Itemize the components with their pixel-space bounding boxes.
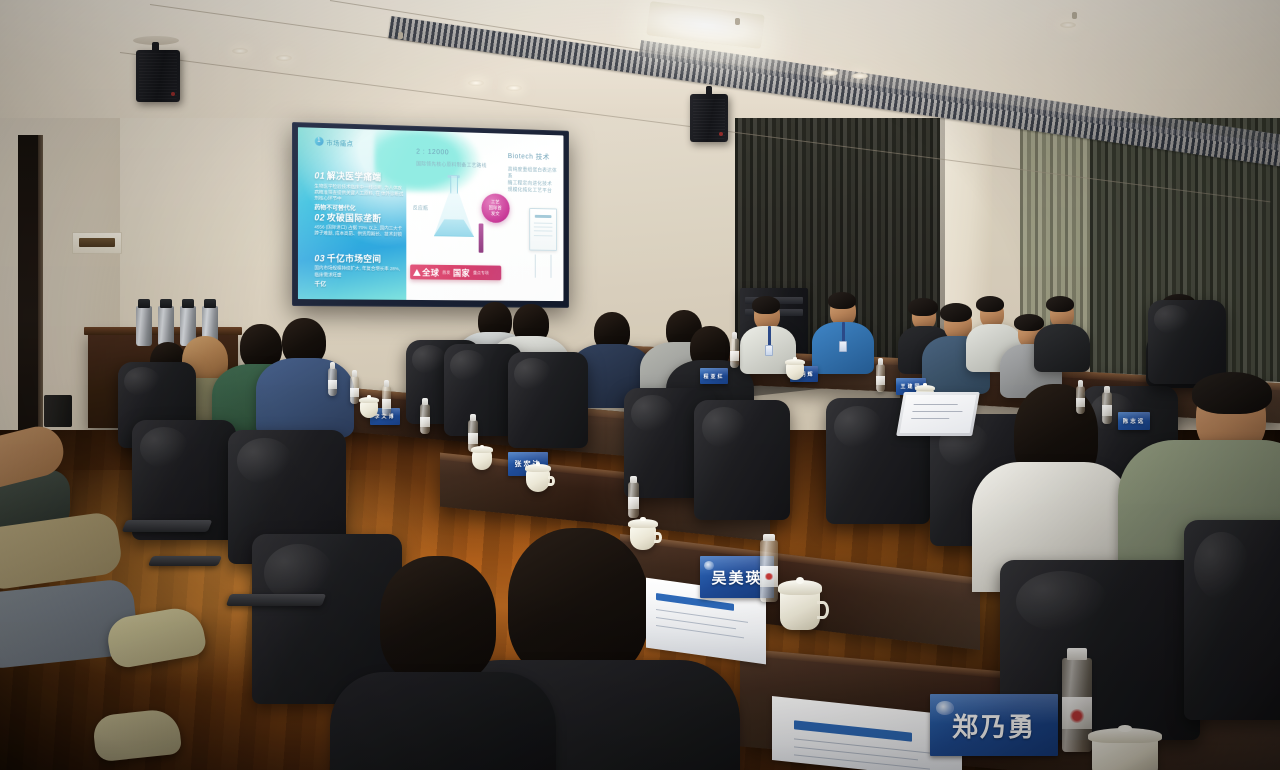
hair	[940, 303, 972, 322]
chair-highlight	[702, 407, 746, 448]
cup-knob	[480, 445, 484, 448]
display-screen-surface: 1 市场痛点 01解决医学痛端 生物医学检验技术临床中一线诊断, 为人体疾病精准…	[298, 127, 563, 301]
banner-global-sub: 首发	[442, 270, 450, 276]
nameplate-text: 吴美瑛	[711, 567, 762, 588]
wall-control-panel[interactable]	[72, 232, 122, 254]
cup-knob	[796, 577, 804, 584]
sprinkler-head-1	[398, 32, 403, 39]
tea-cup-7	[780, 588, 820, 630]
chair-foreground-far-right[interactable]	[1184, 520, 1280, 720]
slide-item-03: 03千亿市场空间 国内市场规模持续扩大, 年复合增长率 28%, 临床需求旺盛 …	[314, 251, 403, 289]
bottle-cap	[763, 534, 775, 541]
cup-handle	[654, 532, 662, 543]
slide-item-01-heading: 01解决医学痛端	[314, 169, 403, 184]
slide-header: 1 市场痛点	[314, 136, 353, 147]
ceiling-speaker-left	[136, 50, 180, 102]
downlight-5	[822, 70, 838, 76]
downlight-6	[852, 73, 868, 79]
panel-display	[79, 238, 115, 247]
laptop-line-2	[912, 411, 962, 412]
chair-highlight	[1154, 305, 1190, 334]
chair-highlight	[140, 427, 188, 468]
slide-item-01-title: 解决医学痛端	[327, 171, 381, 182]
sneaker-2	[92, 708, 182, 763]
chair-right-2[interactable]	[1148, 300, 1226, 384]
conference-room-scene: 1 市场痛点 01解决医学痛端 生物医学检验技术临床中一线诊断, 为人体疾病精准…	[0, 0, 1280, 770]
downlight-4	[506, 85, 522, 91]
slide-header-number: 1	[314, 137, 323, 146]
warning-triangle-icon	[413, 269, 421, 276]
torso	[256, 358, 354, 438]
laptop-line-3	[911, 418, 949, 419]
certificate-line-1	[534, 222, 553, 223]
tea-cup-8	[1092, 736, 1158, 770]
water-bottle-6	[350, 376, 359, 404]
bottle-cap	[1067, 648, 1086, 660]
bottle-cap	[470, 414, 476, 421]
nameplate-text: 郑乃勇	[952, 707, 1036, 744]
badge-card	[839, 341, 847, 352]
certificate-line-4	[534, 235, 553, 236]
downlight-7	[1060, 22, 1076, 28]
bottle-logo	[1069, 709, 1086, 723]
nameplate-text: 程亚红	[703, 373, 724, 380]
chair-highlight	[237, 438, 291, 484]
bottle-cap	[1078, 380, 1084, 387]
waste-bin	[44, 395, 72, 427]
banner-national-label: 国家	[453, 267, 470, 279]
flask-caption: 反应瓶	[413, 205, 428, 212]
chair-back-4[interactable]	[508, 352, 588, 448]
handout-accent-bar	[794, 720, 912, 741]
door-recess	[18, 135, 40, 465]
hair	[752, 296, 780, 314]
bottle-cap	[630, 476, 637, 483]
chair-highlight	[631, 395, 673, 432]
thermos-flask-1	[136, 306, 152, 346]
water-bottle-2	[876, 364, 885, 392]
bottle-label	[628, 497, 639, 509]
water-bottle-4	[1076, 386, 1085, 414]
chair-base-left-1	[122, 520, 213, 532]
thermos-cap	[182, 299, 194, 308]
slide-item-02: 02攻破国际垄断 4556 (国际进口) 占据 70% 以上, 国内三大卡脖子难…	[314, 210, 403, 238]
chair-base-left-2	[148, 556, 222, 566]
speaker-led	[719, 132, 723, 136]
hair	[976, 296, 1004, 312]
water-bottle-7	[382, 386, 391, 416]
thermos-cap	[138, 299, 150, 308]
certificate-stand	[534, 254, 551, 277]
nameplate-zheng-naiyong: 郑乃勇	[930, 694, 1058, 756]
speaker-led	[171, 92, 175, 96]
tea-cup-1	[786, 362, 804, 380]
slide-item-02-title: 攻破国际垄断	[327, 212, 381, 223]
bottle-cap	[330, 362, 336, 369]
thermos-cap	[204, 299, 216, 308]
thermos-flask-2	[158, 306, 174, 346]
slide-item-03-highlight: 千亿	[314, 279, 403, 289]
hair	[1046, 296, 1074, 312]
tea-cup-5	[526, 468, 550, 492]
downlight-3	[468, 80, 484, 86]
head	[508, 528, 648, 680]
chair-highlight	[450, 350, 486, 381]
chair-highlight	[834, 406, 882, 449]
slide-item-03-number: 03	[314, 253, 324, 263]
flask-neck	[450, 176, 457, 194]
thermos-cap	[160, 299, 172, 308]
slide-item-03-heading: 03千亿市场空间	[314, 251, 403, 265]
certificate-line-3	[534, 231, 553, 232]
badge-card	[765, 345, 773, 356]
door-frame-edge	[38, 135, 43, 467]
slide-item-03-desc: 国内市场规模持续扩大, 年复合增长率 28%, 临床需求旺盛	[314, 266, 403, 279]
chair-highlight	[1016, 571, 1108, 632]
torso	[330, 672, 556, 770]
bottle-label	[1102, 405, 1112, 416]
bottle-cap	[422, 398, 428, 405]
bottle-cap	[878, 358, 884, 365]
bottle-label	[468, 433, 478, 444]
bottle-label	[420, 417, 430, 427]
hair	[1192, 372, 1272, 414]
lanyard	[768, 326, 771, 346]
downlight-1	[232, 48, 248, 54]
hair	[1014, 314, 1044, 331]
bottle-label	[1076, 398, 1085, 408]
certificate-line-2	[534, 227, 553, 228]
badge-connector-bar	[479, 223, 484, 252]
slide-aside-title: Biotech 技术	[508, 152, 550, 163]
bottle-label	[328, 380, 337, 390]
chair-highlight	[124, 367, 160, 396]
water-bottle-1	[730, 338, 739, 368]
slide-item-01-desc: 生物医学检验技术临床中一线诊断, 为人体疾病精准筛查提供关键人工原料, 在 体外…	[314, 183, 403, 203]
water-bottle-11	[760, 540, 778, 602]
chair-base-left-3	[226, 594, 326, 606]
slide-header-title: 市场痛点	[326, 137, 353, 148]
banner-global-label: 全球	[422, 266, 439, 278]
laptop-1[interactable]	[896, 392, 980, 436]
bottle-label	[350, 388, 359, 398]
downlight-2	[276, 55, 292, 61]
bottle-cap	[352, 370, 358, 377]
bottle-label	[730, 351, 739, 361]
laptop-screen	[900, 395, 977, 433]
chair-highlight	[1194, 532, 1249, 600]
bottle-label	[876, 376, 885, 386]
chair-highlight	[514, 358, 551, 391]
head	[380, 556, 496, 684]
handout-line-1	[656, 609, 748, 623]
cup-handle	[817, 601, 829, 619]
slide-item-02-desc: 4556 (国际进口) 占据 70% 以上, 国内三大卡脖子难题, 成本高昂、供…	[314, 224, 403, 238]
chair-highlight	[412, 345, 446, 374]
laptop-line-1	[914, 404, 958, 405]
water-bottle-3	[1102, 392, 1112, 424]
sprinkler-head-3	[735, 18, 740, 25]
ceiling-speaker-right	[690, 94, 728, 142]
tea-cup-4	[472, 450, 492, 470]
hair	[828, 292, 856, 309]
presentation-display[interactable]: 1 市场痛点 01解决医学痛端 生物医学检验技术临床中一线诊断, 为人体疾病精准…	[292, 122, 569, 308]
sprinkler-head-2	[1072, 12, 1077, 19]
highlight-badge: 工艺 国际首 发文	[481, 193, 509, 223]
water-bottle-5	[328, 368, 337, 396]
bottle-cap	[732, 332, 738, 339]
hair	[908, 298, 938, 316]
cup-knob	[536, 462, 541, 466]
chair-mid-2[interactable]	[694, 400, 790, 520]
slide-item-01: 01解决医学痛端 生物医学检验技术临床中一线诊断, 为人体疾病精准筛查提供关键人…	[314, 169, 403, 214]
flask-illustration	[432, 175, 476, 237]
bottle-cap	[1104, 386, 1110, 393]
water-bottle-8	[420, 404, 430, 434]
banner-national-sub: 重点专项	[473, 270, 489, 276]
slide-item-02-heading: 02攻破国际垄断	[314, 210, 403, 225]
slide-item-02-number: 02	[314, 212, 324, 222]
nameplate-3: 程亚红	[700, 368, 728, 384]
tea-cup-6	[630, 524, 656, 550]
tea-cup-3	[360, 400, 378, 418]
slide-formula-text: 2 : 12000	[416, 148, 449, 159]
achievement-banner: 全球 首发 国家 重点专项	[410, 265, 502, 281]
lanyard	[842, 322, 845, 342]
handout-line-1	[794, 738, 934, 754]
bottle-cap	[384, 380, 390, 387]
slide-formula-sub: 国际领先核心原料制备工艺路线	[416, 161, 498, 170]
certificate-card	[530, 208, 558, 251]
nameplate-text: 陈志远	[1123, 417, 1146, 425]
water-bottle-10	[628, 482, 639, 518]
cup-knob	[1118, 725, 1131, 732]
slide-aside-body: 高纯度重组蛋白表达体系 酶工程定向进化技术 规模化纯化工艺平台	[508, 167, 559, 195]
certificate-title-bar	[535, 214, 552, 217]
slide-item-03-title: 千亿市场空间	[327, 253, 381, 264]
nameplate-6: 陈志远	[1118, 412, 1150, 430]
slide-right-panel: 2 : 12000 国际领先核心原料制备工艺路线 反应瓶 Biotech 技术 …	[406, 131, 563, 302]
torso	[1034, 324, 1090, 372]
slide-item-01-number: 01	[314, 171, 324, 181]
bottle-label	[382, 399, 391, 409]
